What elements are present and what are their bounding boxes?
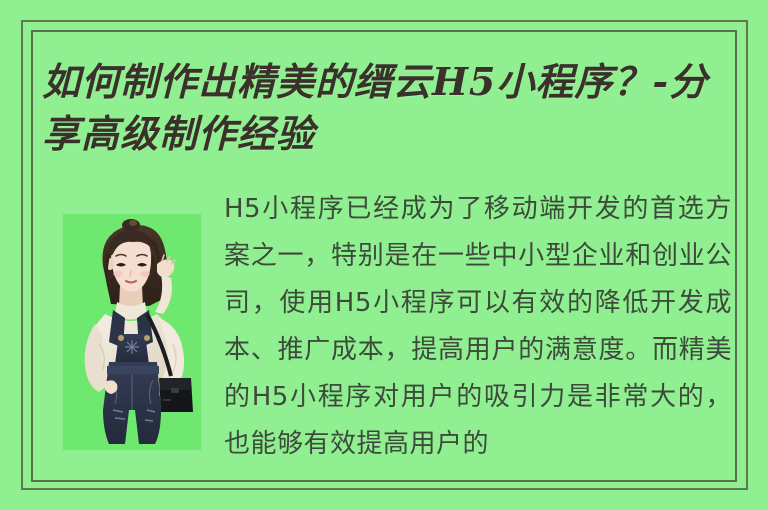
article-body: H5小程序已经成为了移动端开发的首选方案之一，特别是在一些中小型企业和创业公司，… [224,186,732,468]
article-body-text: H5小程序已经成为了移动端开发的首选方案之一，特别是在一些中小型企业和创业公司，… [224,186,732,468]
article-card: 如何制作出精美的缙云H5小程序？-分享高级制作经验 [0,0,768,510]
page-title: 如何制作出精美的缙云H5小程序？-分享高级制作经验 [42,56,730,160]
illustration-figure [63,214,201,450]
young-woman-denim-overalls-icon [63,214,201,450]
